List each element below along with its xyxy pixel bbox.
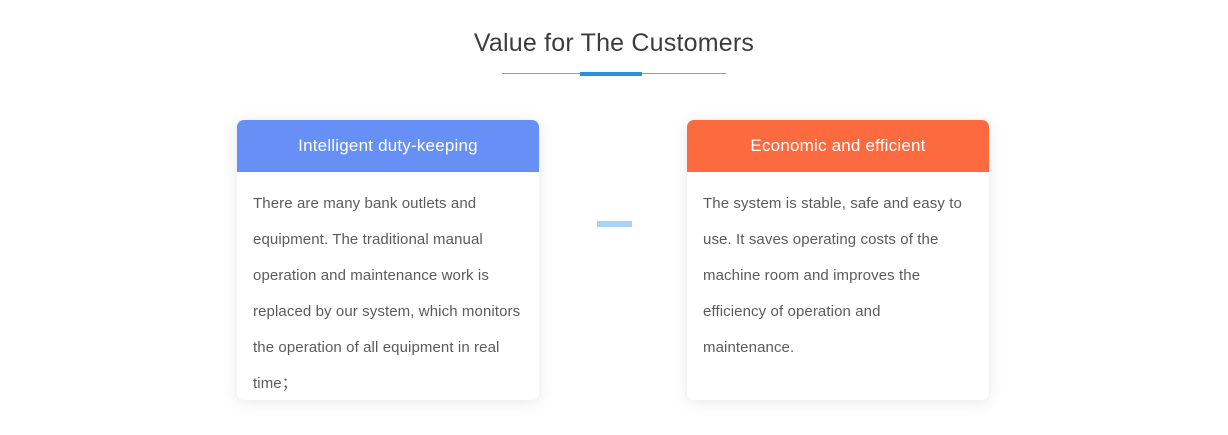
card-body-text: The system is stable, safe and easy to u… bbox=[703, 186, 972, 366]
value-card-economic-and-efficient: Economic and efficient The system is sta… bbox=[687, 120, 989, 400]
card-header-title: Economic and efficient bbox=[687, 120, 989, 172]
page-title: Value for The Customers bbox=[0, 24, 1228, 62]
title-divider bbox=[502, 70, 726, 78]
value-card-intelligent-duty-keeping: Intelligent duty-keeping There are many … bbox=[237, 120, 539, 400]
card-connector-bar bbox=[597, 221, 632, 227]
card-header-title: Intelligent duty-keeping bbox=[237, 120, 539, 172]
section-header: Value for The Customers bbox=[0, 24, 1228, 78]
card-body-text: There are many bank outlets and equipmen… bbox=[253, 186, 522, 400]
divider-accent bbox=[580, 72, 642, 76]
card-body: There are many bank outlets and equipmen… bbox=[237, 172, 539, 400]
card-body: The system is stable, safe and easy to u… bbox=[687, 172, 989, 366]
